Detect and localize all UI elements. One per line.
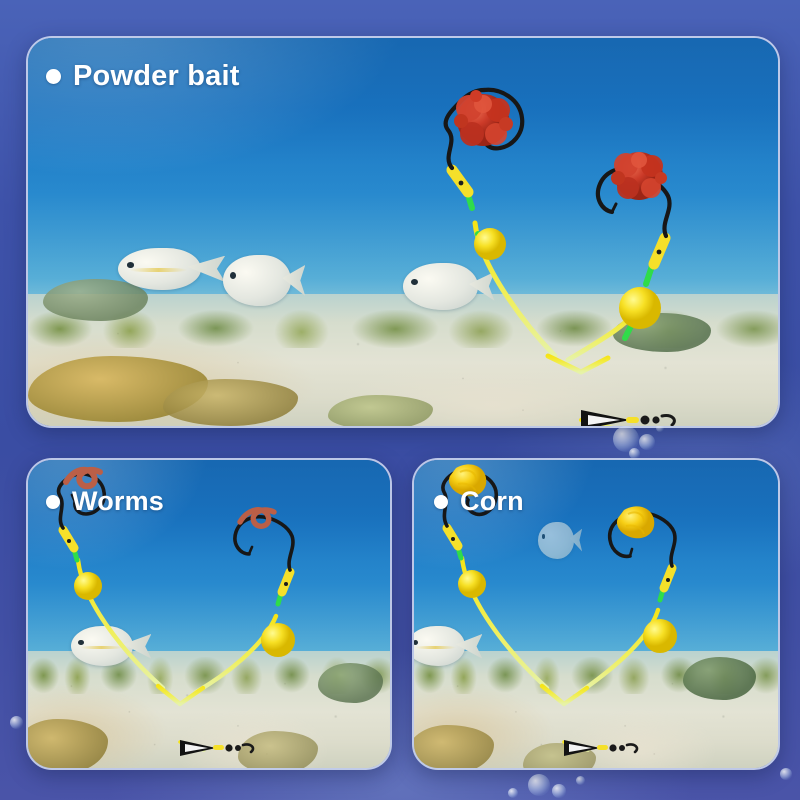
label-powder-bait: Powder bait — [46, 60, 240, 93]
corn-kernel-right — [617, 506, 654, 538]
sinker-weight — [180, 740, 253, 756]
label-worms: Worms — [46, 486, 164, 517]
panel-title: Worms — [72, 486, 164, 517]
sinker-weight — [564, 740, 637, 756]
powder-bait-cluster-left — [454, 90, 513, 146]
panel-title: Corn — [460, 486, 524, 517]
bullet-dot-icon — [434, 495, 448, 509]
label-corn: Corn — [434, 486, 524, 517]
sinker-weight — [581, 410, 674, 428]
panel-title: Powder bait — [73, 60, 240, 93]
powder-bait-cluster-right — [611, 152, 667, 200]
bullet-dot-icon — [46, 69, 61, 84]
bullet-dot-icon — [46, 495, 60, 509]
fishing-rig-powder-bait — [28, 38, 778, 426]
product-infographic: Powder bait — [0, 0, 800, 800]
panel-powder-bait[interactable] — [26, 36, 780, 428]
